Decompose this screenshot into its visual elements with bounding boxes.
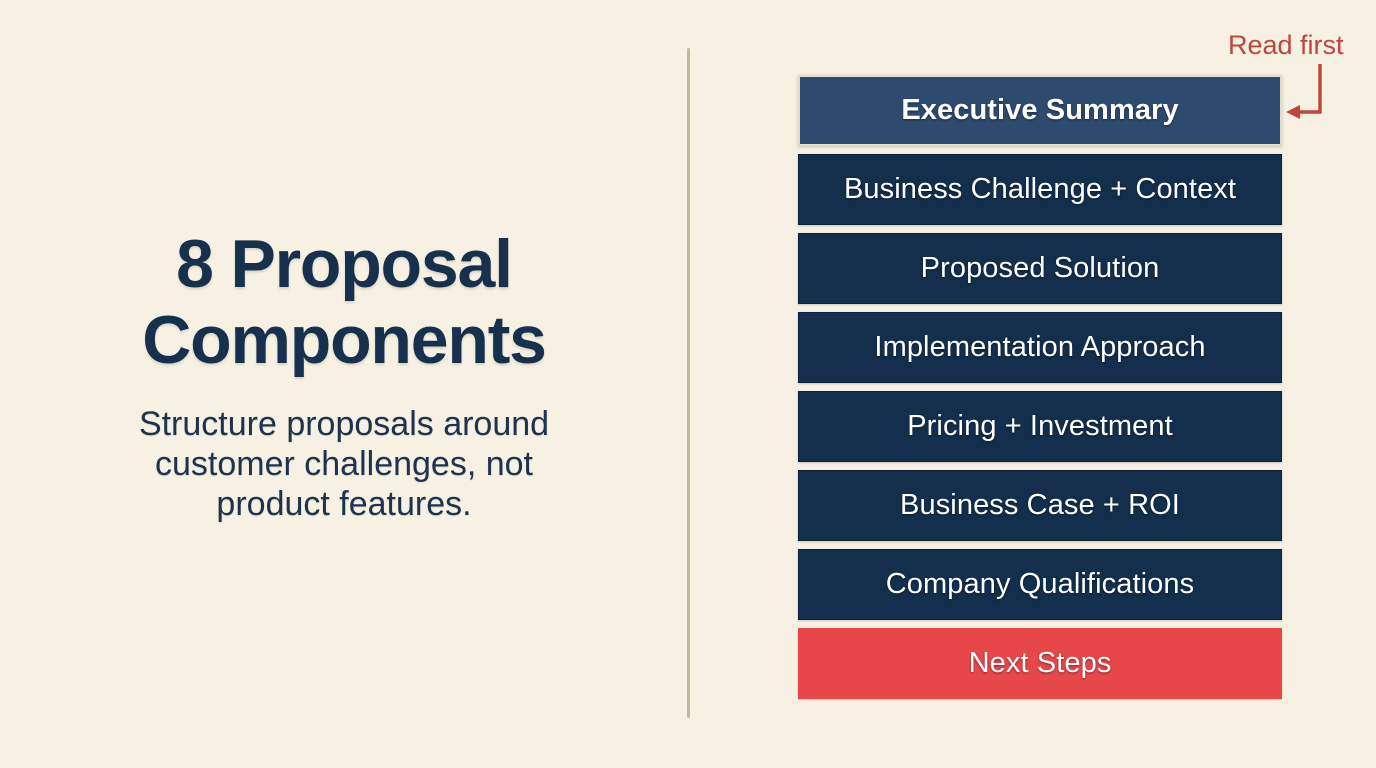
proposal-component-stack: Executive Summary Business Challenge + C… xyxy=(798,75,1282,699)
stack-item-label: Business Case + ROI xyxy=(900,489,1180,522)
stack-item-implementation-approach[interactable]: Implementation Approach xyxy=(798,312,1282,383)
stack-item-label: Pricing + Investment xyxy=(907,410,1173,443)
stack-item-executive-summary[interactable]: Executive Summary xyxy=(798,75,1282,146)
stack-item-label: Next Steps xyxy=(969,647,1112,680)
stack-item-label: Company Qualifications xyxy=(886,568,1194,601)
page-title: 8 Proposal Components xyxy=(104,226,584,378)
stack-item-company-qualifications[interactable]: Company Qualifications xyxy=(798,549,1282,620)
stack-item-next-steps[interactable]: Next Steps xyxy=(798,628,1282,699)
left-text-panel: 8 Proposal Components Structure proposal… xyxy=(0,0,688,768)
elbow-arrow-left-icon xyxy=(1280,60,1340,122)
left-text-block: 8 Proposal Components Structure proposal… xyxy=(104,226,584,524)
stack-item-label: Proposed Solution xyxy=(921,252,1160,285)
stack-item-business-challenge-context[interactable]: Business Challenge + Context xyxy=(798,154,1282,225)
annotation-label: Read first xyxy=(1228,28,1376,62)
stack-item-pricing-investment[interactable]: Pricing + Investment xyxy=(798,391,1282,462)
stack-item-label: Implementation Approach xyxy=(874,331,1205,364)
stack-item-proposed-solution[interactable]: Proposed Solution xyxy=(798,233,1282,304)
stack-item-label: Executive Summary xyxy=(901,94,1178,127)
slide-canvas: 8 Proposal Components Structure proposal… xyxy=(0,0,1376,768)
stack-item-business-case-roi[interactable]: Business Case + ROI xyxy=(798,470,1282,541)
stack-item-label: Business Challenge + Context xyxy=(844,173,1236,206)
vertical-divider xyxy=(687,48,690,718)
page-subtitle: Structure proposals around customer chal… xyxy=(104,404,584,524)
